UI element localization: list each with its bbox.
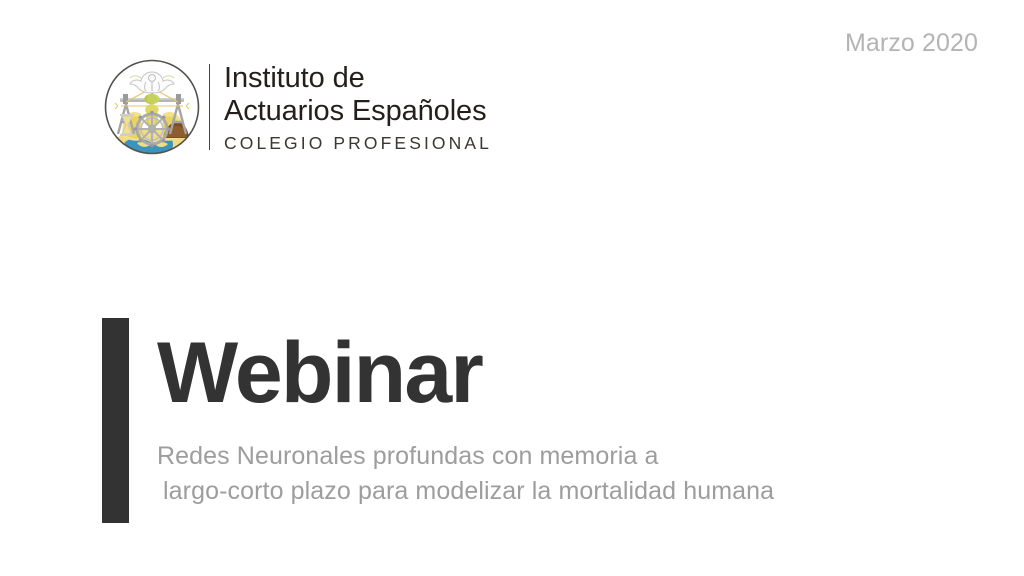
brand-name-block: Instituto de Actuarios Españoles COLEGIO… (224, 62, 492, 153)
logo-divider (209, 64, 210, 150)
subtitle-group: Redes Neuronales profundas con memoria a… (157, 439, 774, 509)
slide-date: Marzo 2020 (845, 29, 978, 58)
instituto-actuarios-espanoles-crest-icon (103, 58, 201, 156)
page-title: Webinar (157, 330, 774, 416)
accent-bar (102, 318, 129, 523)
subtitle-line-1: Redes Neuronales profundas con memoria a (157, 439, 774, 474)
brand-name-line-2: Actuarios Españoles (224, 95, 492, 128)
title-text-group: Webinar Redes Neuronales profundas con m… (129, 318, 774, 523)
title-block: Webinar Redes Neuronales profundas con m… (102, 318, 774, 523)
presentation-slide: Marzo 2020 (0, 0, 1024, 576)
brand-name-line-1: Instituto de (224, 62, 492, 95)
brand-logo-lockup: Instituto de Actuarios Españoles COLEGIO… (103, 55, 492, 159)
subtitle-line-2: largo-corto plazo para modelizar la mort… (157, 474, 774, 509)
brand-tagline: COLEGIO PROFESIONAL (224, 133, 492, 153)
